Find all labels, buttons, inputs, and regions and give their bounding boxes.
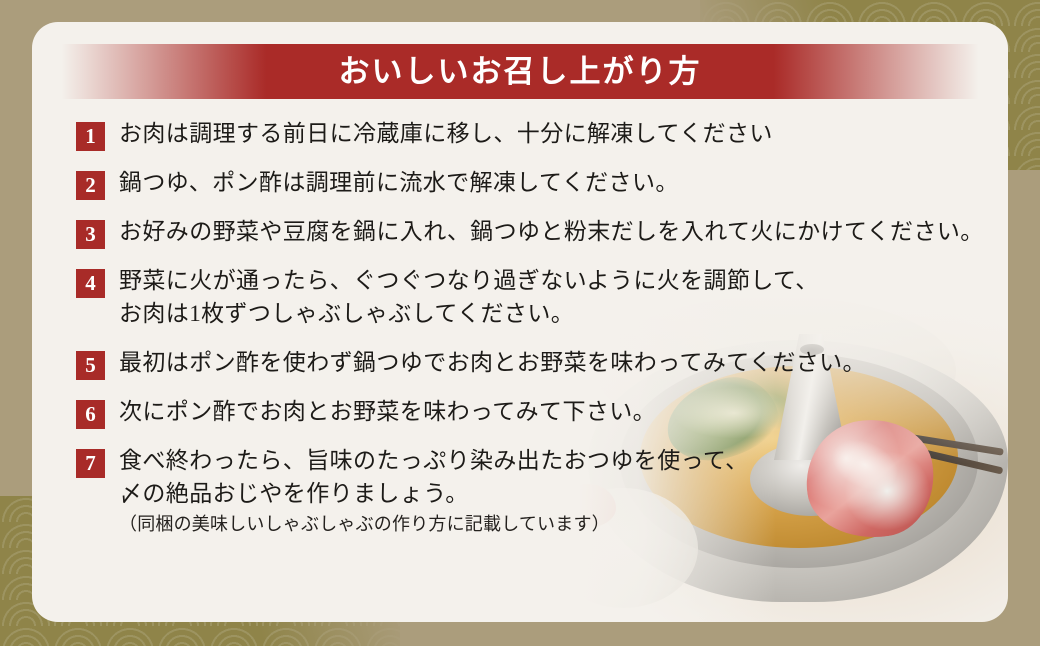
step-number-badge: 1 (76, 122, 105, 151)
step-note: （同梱の美味しいしゃぶしゃぶの作り方に記載しています） (119, 511, 749, 537)
instruction-step: 4野菜に火が通ったら、ぐつぐつなり過ぎないように火を調節して、お肉は1枚ずつしゃ… (76, 265, 976, 331)
step-text-line: 野菜に火が通ったら、ぐつぐつなり過ぎないように火を調節して、 (119, 265, 819, 298)
instruction-step: 1お肉は調理する前日に冷蔵庫に移し、十分に解凍してください (76, 118, 976, 151)
step-number-badge: 2 (76, 171, 105, 200)
step-text-line: お肉は1枚ずつしゃぶしゃぶしてください。 (119, 298, 819, 331)
step-text: お肉は調理する前日に冷蔵庫に移し、十分に解凍してください (119, 118, 773, 151)
step-number-badge: 3 (76, 220, 105, 249)
instruction-step-list: 1お肉は調理する前日に冷蔵庫に移し、十分に解凍してください2鍋つゆ、ポン酢は調理… (76, 118, 976, 553)
instruction-step: 2鍋つゆ、ポン酢は調理前に流水で解凍してください。 (76, 167, 976, 200)
step-text: お好みの野菜や豆腐を鍋に入れ、鍋つゆと粉末だしを入れて火にかけてください。 (119, 216, 984, 249)
step-text-line: 〆の絶品おじやを作りましょう。 (119, 478, 749, 511)
step-number-badge: 6 (76, 400, 105, 429)
step-text: 野菜に火が通ったら、ぐつぐつなり過ぎないように火を調節して、お肉は1枚ずつしゃぶ… (119, 265, 819, 331)
step-text: 鍋つゆ、ポン酢は調理前に流水で解凍してください。 (119, 167, 679, 200)
step-text: 最初はポン酢を使わず鍋つゆでお肉とお野菜を味わってみてください。 (119, 347, 866, 380)
step-text-line: お好みの野菜や豆腐を鍋に入れ、鍋つゆと粉末だしを入れて火にかけてください。 (119, 216, 984, 249)
step-text-line: 最初はポン酢を使わず鍋つゆでお肉とお野菜を味わってみてください。 (119, 347, 866, 380)
instruction-step: 3お好みの野菜や豆腐を鍋に入れ、鍋つゆと粉末だしを入れて火にかけてください。 (76, 216, 976, 249)
instruction-step: 7食べ終わったら、旨味のたっぷり染み出たおつゆを使って、〆の絶品おじやを作りまし… (76, 445, 976, 537)
step-number-badge: 5 (76, 351, 105, 380)
step-text-line: 鍋つゆ、ポン酢は調理前に流水で解凍してください。 (119, 167, 679, 200)
instruction-step: 5最初はポン酢を使わず鍋つゆでお肉とお野菜を味わってみてください。 (76, 347, 976, 380)
instruction-card-graphic: おいしいお召し上がり方 1お肉は調理する前日に冷蔵庫に移し、十分に解凍してくださ… (0, 0, 1040, 646)
step-number-badge: 7 (76, 449, 105, 478)
content-card: おいしいお召し上がり方 1お肉は調理する前日に冷蔵庫に移し、十分に解凍してくださ… (32, 22, 1008, 622)
step-text-line: 食べ終わったら、旨味のたっぷり染み出たおつゆを使って、 (119, 445, 749, 478)
instruction-step: 6次にポン酢でお肉とお野菜を味わってみて下さい。 (76, 396, 976, 429)
step-text-line: 次にポン酢でお肉とお野菜を味わってみて下さい。 (119, 396, 656, 429)
title-banner: おいしいお召し上がり方 (32, 44, 1008, 99)
step-text: 次にポン酢でお肉とお野菜を味わってみて下さい。 (119, 396, 656, 429)
step-text-line: お肉は調理する前日に冷蔵庫に移し、十分に解凍してください (119, 118, 773, 151)
page-title: おいしいお召し上がり方 (339, 56, 702, 87)
step-number-badge: 4 (76, 269, 105, 298)
step-text: 食べ終わったら、旨味のたっぷり染み出たおつゆを使って、〆の絶品おじやを作りましょ… (119, 445, 749, 537)
